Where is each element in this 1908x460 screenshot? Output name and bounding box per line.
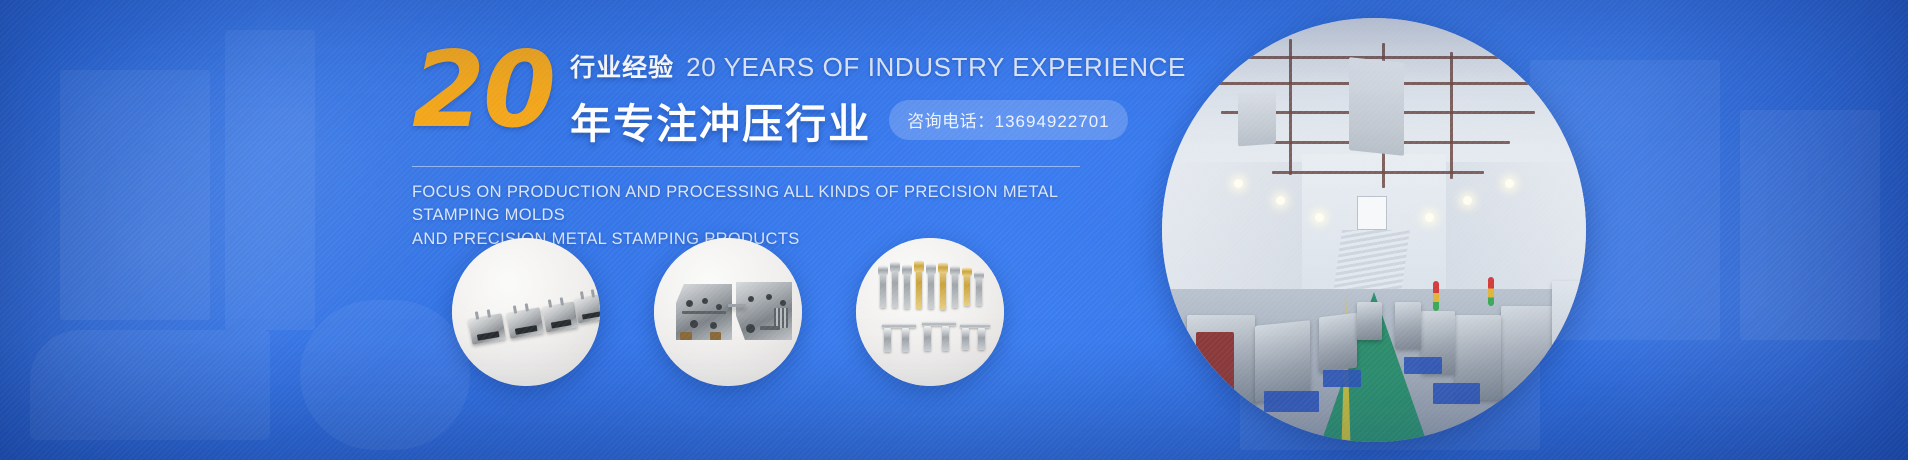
- product-circle-connectors: [452, 238, 600, 386]
- factory-red-cabinet: [1196, 332, 1234, 400]
- factory-signal-tower: [1488, 277, 1494, 307]
- mold-half-right: [736, 282, 792, 340]
- factory-pallet: [1433, 383, 1480, 404]
- factory-pallet: [1264, 391, 1319, 412]
- ghost-machine-silhouette: [225, 30, 315, 330]
- product-circle-terminals: [856, 238, 1004, 386]
- terminal-pin: [924, 326, 931, 351]
- ghost-machine-silhouette: [1740, 110, 1880, 340]
- headline-row: 20 行业经验 20 YEARS OF INDUSTRY EXPERIENCE …: [412, 40, 1112, 150]
- terminal-pin: [952, 266, 958, 308]
- connector-part: [574, 294, 600, 324]
- product-backdrop: [856, 238, 1004, 386]
- headline-line-two: 年专注冲压行业 咨询电话：13694922701: [570, 90, 1186, 150]
- terminal-pin: [962, 328, 969, 350]
- terminal-pin: [880, 266, 886, 308]
- factory-window: [1357, 196, 1387, 230]
- factory-machine: [1395, 302, 1420, 349]
- terminal-pin: [884, 328, 891, 352]
- headline-text-group: 行业经验 20 YEARS OF INDUSTRY EXPERIENCE 年专注…: [570, 40, 1186, 150]
- terminal-pin: [916, 261, 922, 309]
- focus-statement-cn: 年专注冲压行业: [570, 90, 871, 150]
- ghost-machine-silhouette: [30, 330, 270, 440]
- factory-pallet: [1323, 370, 1361, 387]
- connector-part: [542, 301, 578, 332]
- factory-signal-tower: [1433, 281, 1439, 311]
- terminal-pin: [978, 328, 985, 350]
- experience-label-cn: 行业经验: [570, 48, 674, 84]
- terminal-pin: [940, 263, 946, 310]
- phone-badge[interactable]: 咨询电话：13694922701: [889, 100, 1128, 140]
- factory-machine: [1552, 281, 1586, 417]
- headline-line-one: 行业经验 20 YEARS OF INDUSTRY EXPERIENCE: [570, 48, 1186, 84]
- terminal-pin: [904, 265, 910, 309]
- headline-divider: [412, 166, 1080, 167]
- factory-workshop-photo: [1162, 18, 1586, 442]
- ghost-machine-silhouette: [60, 70, 210, 320]
- terminal-pin: [976, 272, 982, 306]
- mold-half-left: [676, 284, 732, 340]
- headline-block: 20 行业经验 20 YEARS OF INDUSTRY EXPERIENCE …: [412, 40, 1112, 251]
- factory-pallet: [1404, 357, 1442, 374]
- terminal-pin: [902, 328, 909, 352]
- terminal-pin: [892, 262, 898, 308]
- phone-label: 咨询电话：: [907, 112, 995, 131]
- terminal-pin: [928, 264, 934, 309]
- product-circle-molds: [654, 238, 802, 386]
- terminal-pin: [942, 326, 949, 351]
- years-number: 20: [412, 42, 554, 139]
- experience-label-en: 20 YEARS OF INDUSTRY EXPERIENCE: [686, 52, 1186, 83]
- subtitle-line-1: FOCUS ON PRODUCTION AND PROCESSING ALL K…: [412, 181, 1112, 228]
- promo-banner: 20 行业经验 20 YEARS OF INDUSTRY EXPERIENCE …: [0, 0, 1908, 460]
- ghost-machine-silhouette: [300, 300, 470, 450]
- factory-machine: [1319, 312, 1357, 372]
- factory-machine: [1357, 302, 1382, 340]
- mold-guide-pin: [728, 304, 746, 307]
- terminal-pin: [964, 268, 970, 306]
- phone-number: 13694922701: [995, 112, 1110, 131]
